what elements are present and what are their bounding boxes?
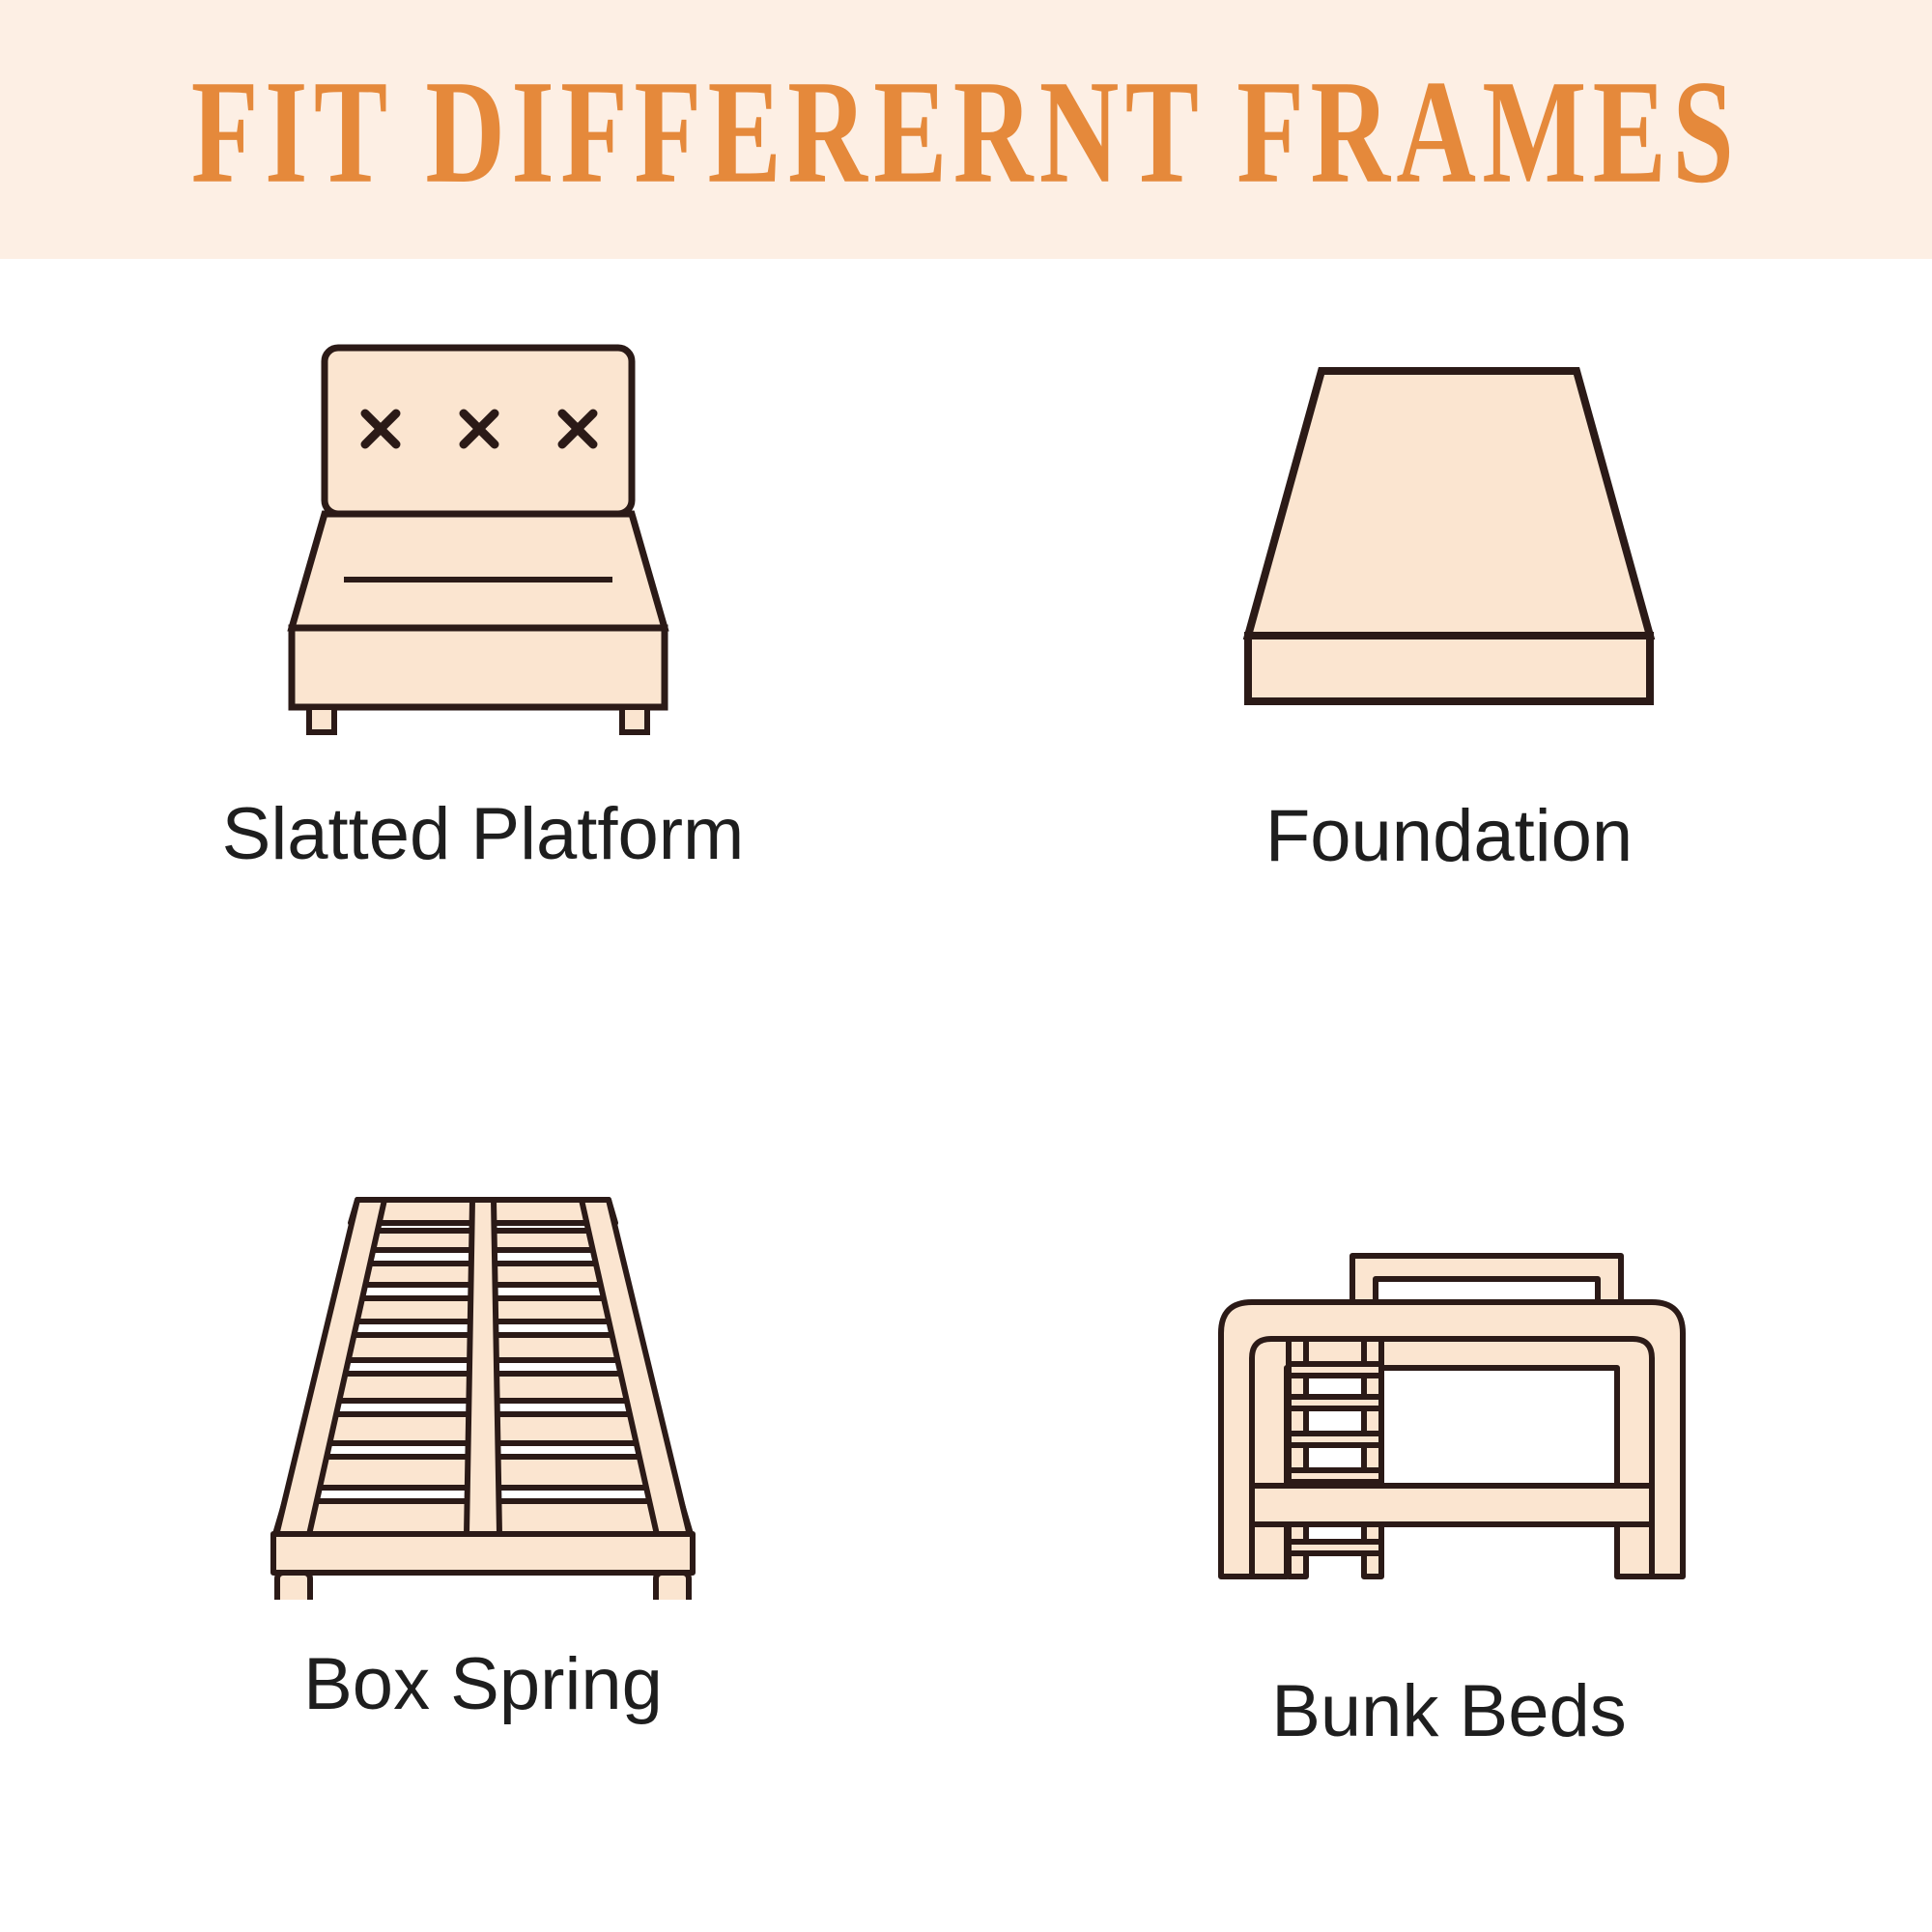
slatted-platform-bed-icon (261, 338, 705, 744)
card-slatted-platform: Slatted Platform (0, 259, 966, 1095)
card-bunk-beds: Bunk Beds (966, 1095, 1932, 1932)
ladder-rung (1289, 1542, 1381, 1553)
guard-rail (1352, 1256, 1621, 1306)
header-band: FIT DIFFERERNT FRAMES (0, 0, 1932, 259)
bunk-bed-icon (1207, 1250, 1690, 1617)
foundation-platform-icon (1236, 363, 1662, 711)
box-spring-frame-icon (256, 1194, 710, 1600)
card-label-box-spring: Box Spring (303, 1648, 663, 1721)
frames-grid: Slatted Platform Foundation (0, 259, 1932, 1932)
ladder-rung (1289, 1434, 1381, 1445)
ladder-rung (1289, 1397, 1381, 1408)
ladder-rung (1289, 1364, 1381, 1376)
card-label-foundation: Foundation (1265, 800, 1633, 873)
card-foundation: Foundation (966, 259, 1932, 1095)
card-label-slatted-platform: Slatted Platform (222, 798, 745, 871)
card-box-spring: Box Spring (0, 1095, 966, 1932)
ladder-rung (1289, 1470, 1381, 1482)
bed-leg-left (309, 707, 334, 732)
card-label-bunk-beds: Bunk Beds (1271, 1675, 1627, 1748)
bed-leg-right (622, 707, 647, 732)
frame-leg-left (277, 1573, 310, 1600)
front-rail (273, 1534, 693, 1573)
lower-bunk-rail (1252, 1486, 1652, 1524)
page-title: FIT DIFFERERNT FRAMES (191, 58, 1740, 206)
center-beam (467, 1200, 499, 1534)
frame-leg-right (656, 1573, 689, 1600)
